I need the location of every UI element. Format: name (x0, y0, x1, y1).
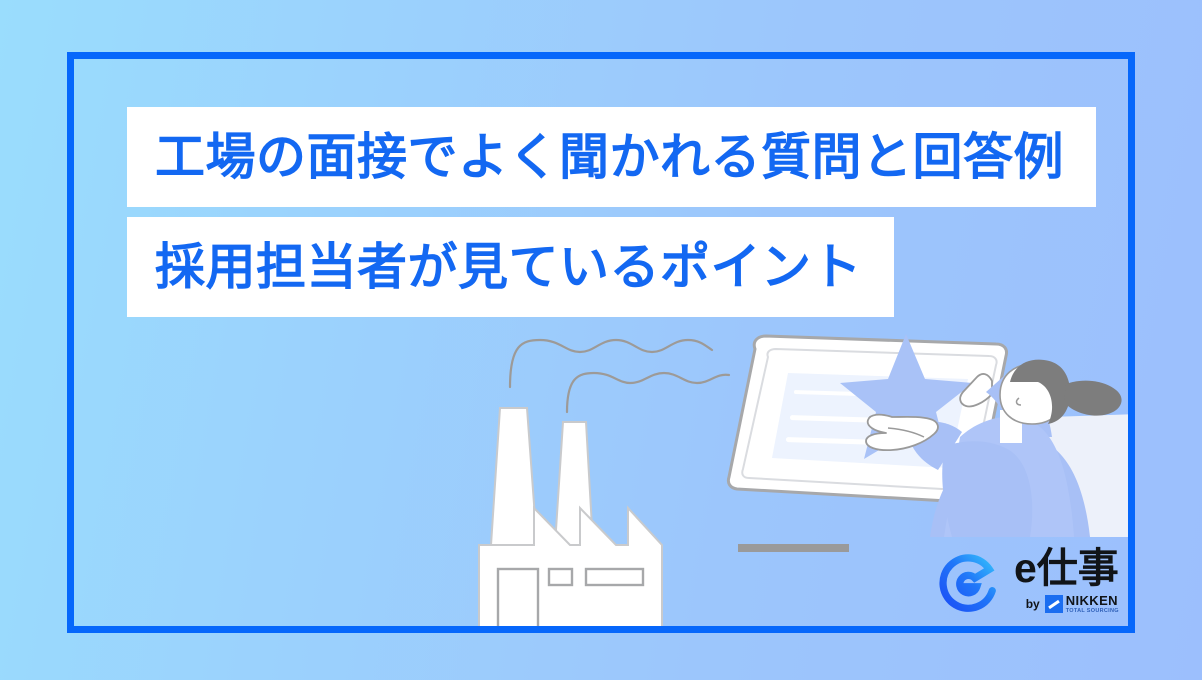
nikken-tagline: TOTAL SOURCING (1066, 609, 1119, 615)
headline-line-2: 採用担当者が見ているポイント (127, 217, 894, 317)
headline-line-1: 工場の面接でよく聞かれる質問と回答例 (127, 107, 1096, 207)
logo-wordmark: e仕事 (1014, 548, 1119, 589)
brand-logo[interactable]: e仕事 by NIKKEN TOTAL SOURCING (938, 548, 1119, 615)
nikken-names: NIKKEN TOTAL SOURCING (1066, 594, 1119, 615)
logo-byline: by NIKKEN TOTAL SOURCING (1026, 594, 1119, 615)
rating-star (840, 334, 973, 459)
nikken-company-name: NIKKEN (1066, 594, 1119, 607)
presenting-person (866, 360, 1122, 537)
factory-icon (479, 408, 662, 641)
smoke-waves (510, 340, 729, 412)
logo-by-label: by (1026, 598, 1040, 610)
tablet-review-screen (728, 336, 1006, 502)
headline-group: 工場の面接でよく聞かれる質問と回答例 採用担当者が見ているポイント (127, 107, 1127, 317)
e-shigoto-emblem-icon (938, 550, 1000, 612)
logo-text-block: e仕事 by NIKKEN TOTAL SOURCING (1014, 548, 1119, 615)
ground-shadow-bar (738, 544, 849, 552)
nikken-slash-icon (1045, 595, 1063, 613)
promo-banner: 工場の面接でよく聞かれる質問と回答例 採用担当者が見ているポイント e仕事 by (0, 0, 1202, 680)
backdrop-panel (960, 414, 1140, 537)
nikken-badge: NIKKEN TOTAL SOURCING (1045, 594, 1119, 615)
